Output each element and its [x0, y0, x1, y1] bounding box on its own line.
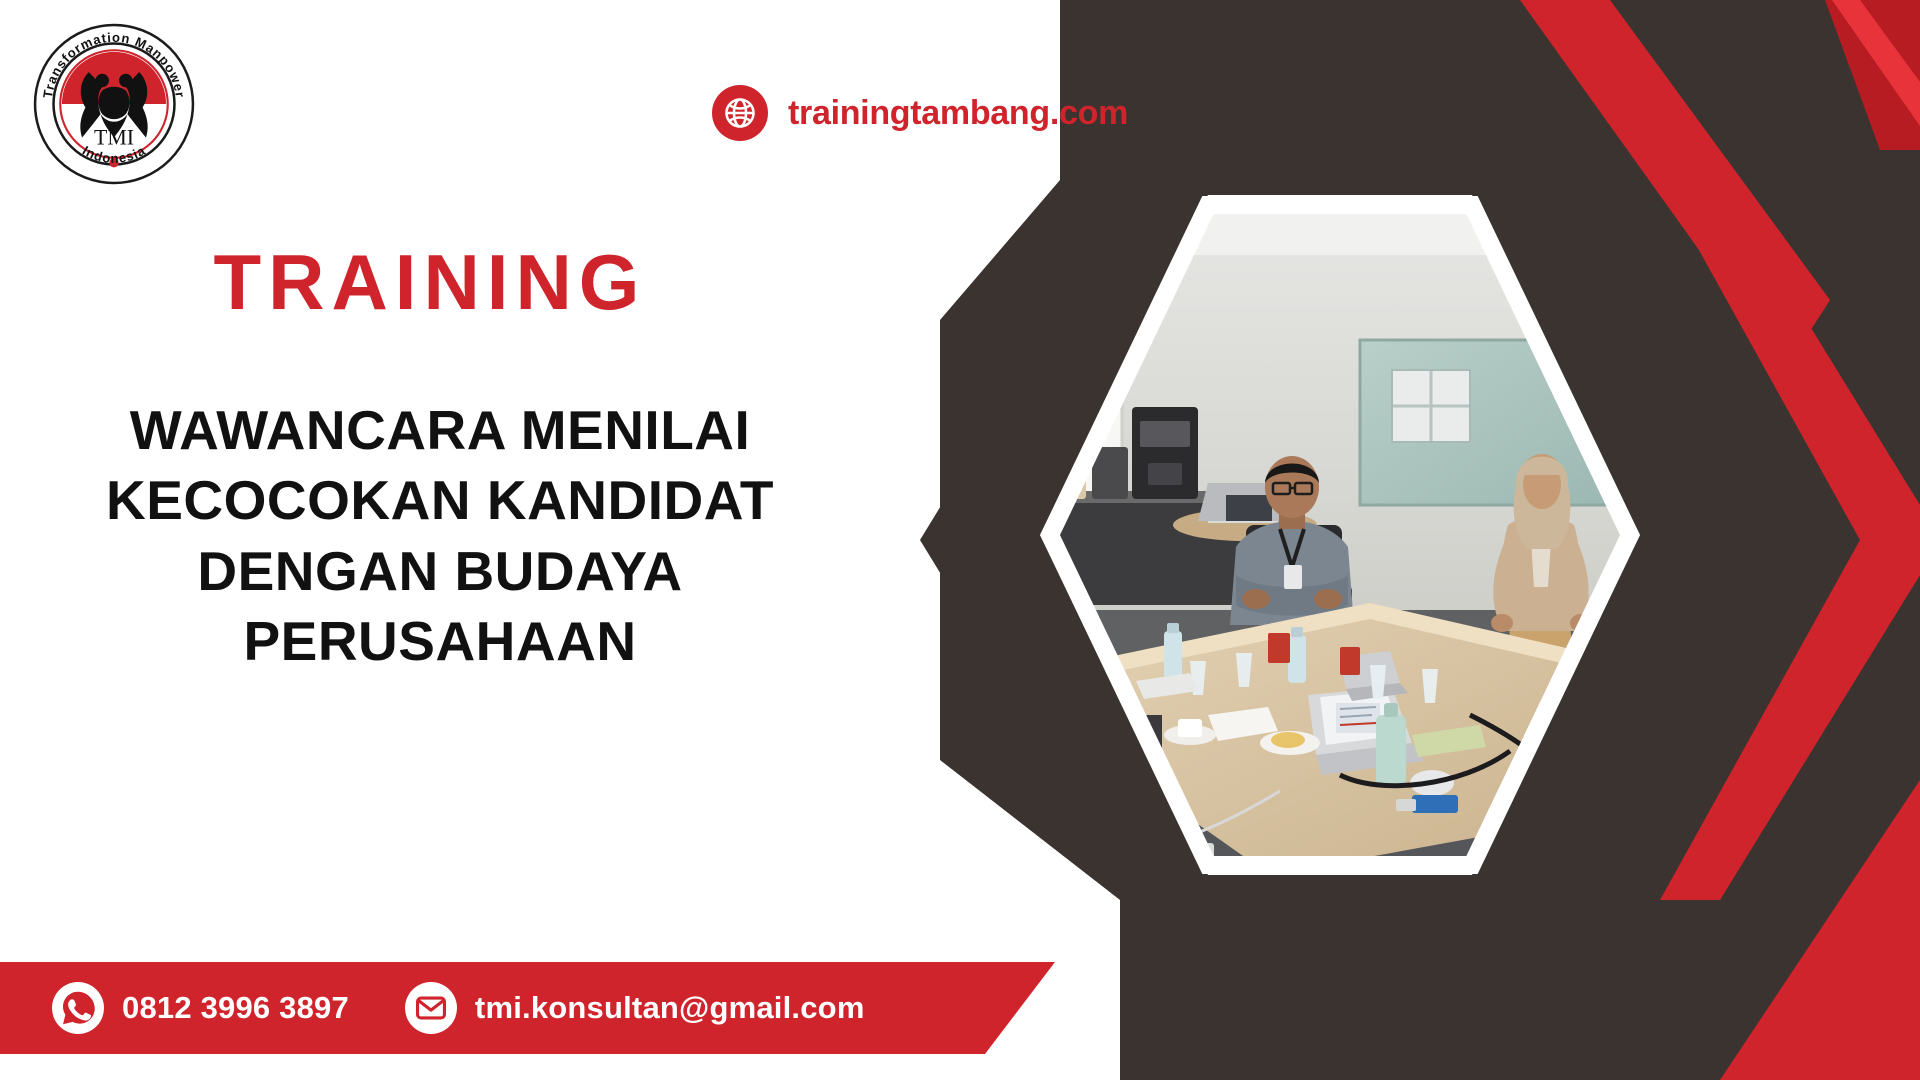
email-address[interactable]: tmi.konsultan@gmail.com: [475, 990, 865, 1026]
page-eyebrow: TRAINING: [0, 243, 860, 321]
contact-item-email[interactable]: tmi.konsultan@gmail.com: [405, 982, 865, 1034]
whatsapp-icon: [52, 982, 104, 1034]
title-line-3: DENGAN BUDAYA: [0, 536, 880, 606]
contact-item-phone[interactable]: 0812 3996 3897: [52, 982, 349, 1034]
title-line-1: WAWANCARA MENILAI: [0, 395, 880, 465]
globe-icon: [712, 85, 768, 141]
website-url[interactable]: trainingtambang.com: [788, 94, 1128, 133]
contact-bar: 0812 3996 3897 tmi.konsultan@gmail.com: [0, 962, 1055, 1054]
poster-canvas: TMI Transformation Manpower Indonesia: [0, 0, 1920, 1080]
title-line-4: PERUSAHAAN: [0, 606, 880, 676]
training-photo: [1040, 195, 1640, 875]
website-row[interactable]: trainingtambang.com: [712, 85, 1128, 141]
page-title: WAWANCARA MENILAI KECOCOKAN KANDIDAT DEN…: [0, 395, 880, 677]
tmi-logo: TMI Transformation Manpower Indonesia: [30, 20, 198, 188]
title-line-2: KECOCOKAN KANDIDAT: [0, 465, 880, 535]
svg-text:TMI: TMI: [94, 125, 134, 149]
phone-number[interactable]: 0812 3996 3897: [122, 990, 349, 1026]
email-icon: [405, 982, 457, 1034]
